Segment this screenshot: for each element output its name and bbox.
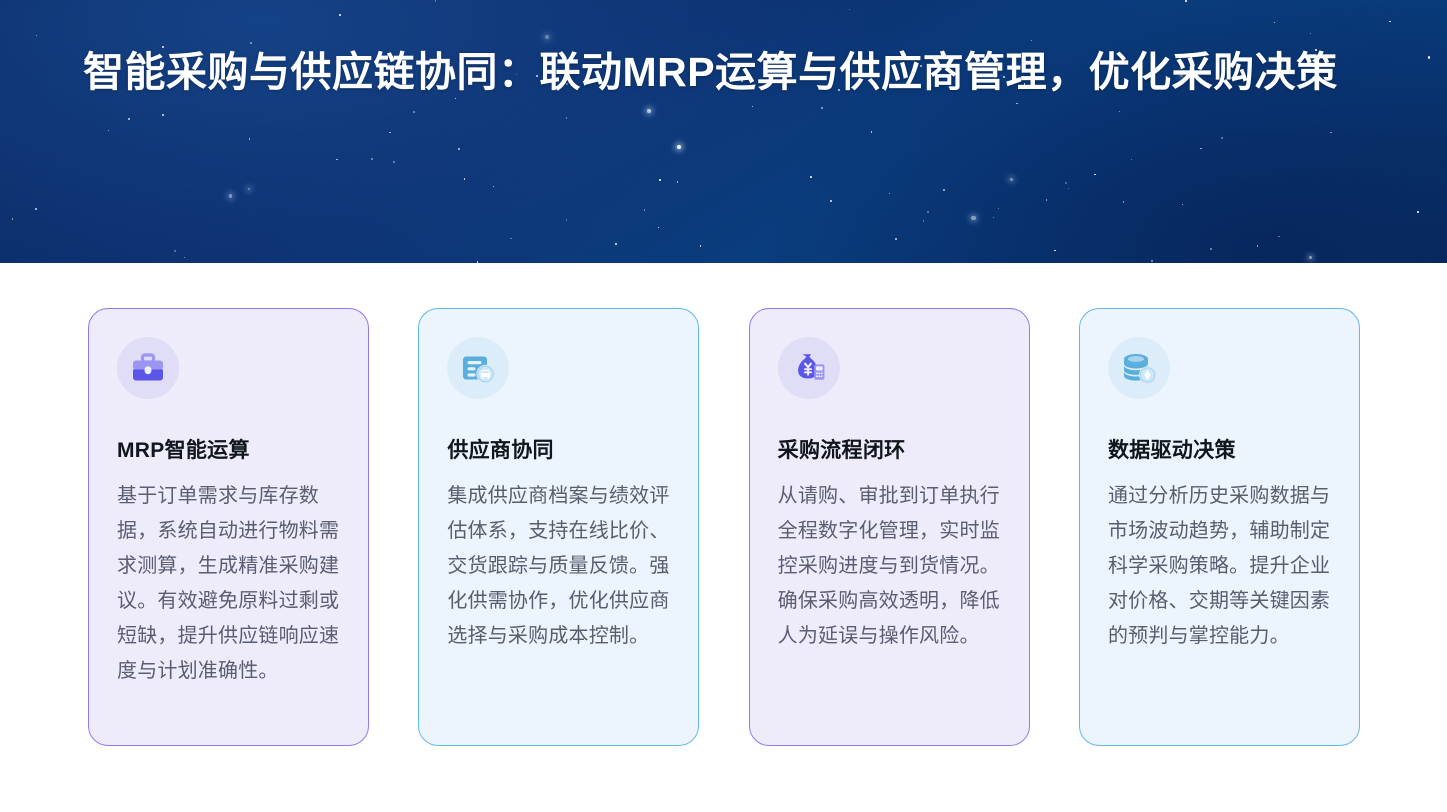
money-bag-calculator-icon [778,337,840,399]
star-dot [464,178,465,179]
star-dot [458,148,460,150]
star-dot [927,211,929,213]
star-dot [895,238,897,240]
card-description: 集成供应商档案与绩效评估体系，支持在线比价、交货跟踪与质量反馈。强化供需协作，优… [447,479,670,654]
star-dot [510,238,512,240]
star-dot [371,158,373,160]
star-dot [700,245,701,246]
star-dot [36,35,37,36]
star-dot [1221,137,1223,139]
star-dot [677,145,681,149]
star-dot [35,208,37,210]
star-dot [1094,174,1096,176]
star-dot [389,132,391,134]
star-dot [644,209,646,211]
star-dot [1257,245,1259,247]
card-description: 从请购、审批到订单执行全程数字化管理，实时监控采购进度与到货情况。确保采购高效透… [778,479,1001,654]
star-dot [1200,148,1201,149]
feature-card-process[interactable]: 采购流程闭环 从请购、审批到订单执行全程数字化管理，实时监控采购进度与到货情况。… [749,308,1030,746]
star-dot [821,107,823,109]
star-dot [677,181,679,183]
star-dot [1417,211,1419,213]
star-dot [1054,250,1056,252]
star-dot [889,193,891,195]
star-dot [108,130,109,131]
star-dot [998,208,999,209]
star-dot [248,188,251,191]
star-dot [849,9,850,10]
star-dot [923,220,924,221]
star-dot [871,131,873,133]
star-dot [493,186,494,187]
card-title: 数据驱动决策 [1108,437,1331,465]
star-dot [1046,199,1048,201]
star-dot [174,250,176,252]
star-dot [162,114,164,116]
star-dot [566,219,568,221]
star-dot [393,161,394,162]
star-dot [184,257,186,259]
document-truck-icon [447,337,509,399]
card-description: 基于订单需求与库存数据，系统自动进行物料需求测算，生成精准采购建议。有效避免原料… [117,479,340,689]
star-dot [1068,188,1069,189]
star-dot [128,118,130,120]
star-dot [1278,236,1280,238]
star-dot [1274,22,1275,23]
card-description: 通过分析历史采购数据与市场波动趋势，辅助制定科学采购策略。提升企业对价格、交期等… [1108,479,1331,654]
star-dot [545,35,549,39]
star-dot [12,218,13,219]
card-title: 供应商协同 [447,437,670,465]
feature-card-supplier[interactable]: 供应商协同 集成供应商档案与绩效评估体系，支持在线比价、交货跟踪与质量反馈。强化… [418,308,699,746]
header-banner: 智能采购与供应链协同：联动MRP运算与供应商管理，优化采购决策 [0,0,1447,263]
slide-root: 智能采购与供应链协同：联动MRP运算与供应商管理，优化采购决策 MRP智能运算 … [0,0,1447,812]
page-title-wrapper: 智能采购与供应链协同：联动MRP运算与供应商管理，优化采购决策 [83,42,1353,102]
star-dot [1310,33,1311,34]
card-title: MRP智能运算 [117,437,340,465]
star-dot [229,194,233,198]
star-dot [249,138,250,139]
star-dot [943,189,945,191]
starfield-decoration [0,0,1447,263]
star-dot [1210,248,1212,250]
star-dot [477,261,478,262]
star-dot [339,14,341,16]
star-dot [1185,0,1187,2]
star-dot [1428,56,1430,58]
star-dot [615,243,617,245]
star-dot [1389,21,1390,22]
star-dot [647,109,651,113]
star-dot [1119,111,1120,112]
star-dot [810,176,812,178]
star-dot [1182,204,1184,206]
star-dot [752,106,753,107]
card-title: 采购流程闭环 [778,437,1001,465]
star-dot [971,216,975,220]
page-title: 智能采购与供应链协同：联动MRP运算与供应商管理，优化采购决策 [83,42,1353,102]
database-diamond-icon [1108,337,1170,399]
star-dot [659,179,661,181]
star-dot [1309,256,1312,259]
star-dot [1123,201,1125,203]
star-dot [658,227,659,228]
star-dot [830,200,832,202]
briefcase-icon [117,337,179,399]
star-dot [435,0,437,2]
star-dot [1151,260,1153,262]
star-dot [1131,159,1133,161]
star-dot [336,159,338,161]
star-dot [413,111,415,113]
star-dot [1016,103,1017,104]
star-dot [566,117,567,118]
star-dot [1065,182,1067,184]
feature-card-list: MRP智能运算 基于订单需求与库存数据，系统自动进行物料需求测算，生成精准采购建… [88,308,1360,746]
star-dot [1330,132,1331,133]
feature-card-mrp[interactable]: MRP智能运算 基于订单需求与库存数据，系统自动进行物料需求测算，生成精准采购建… [88,308,369,746]
feature-card-data[interactable]: 数据驱动决策 通过分析历史采购数据与市场波动趋势，辅助制定科学采购策略。提升企业… [1079,308,1360,746]
star-dot [993,217,994,218]
star-dot [1010,178,1013,181]
